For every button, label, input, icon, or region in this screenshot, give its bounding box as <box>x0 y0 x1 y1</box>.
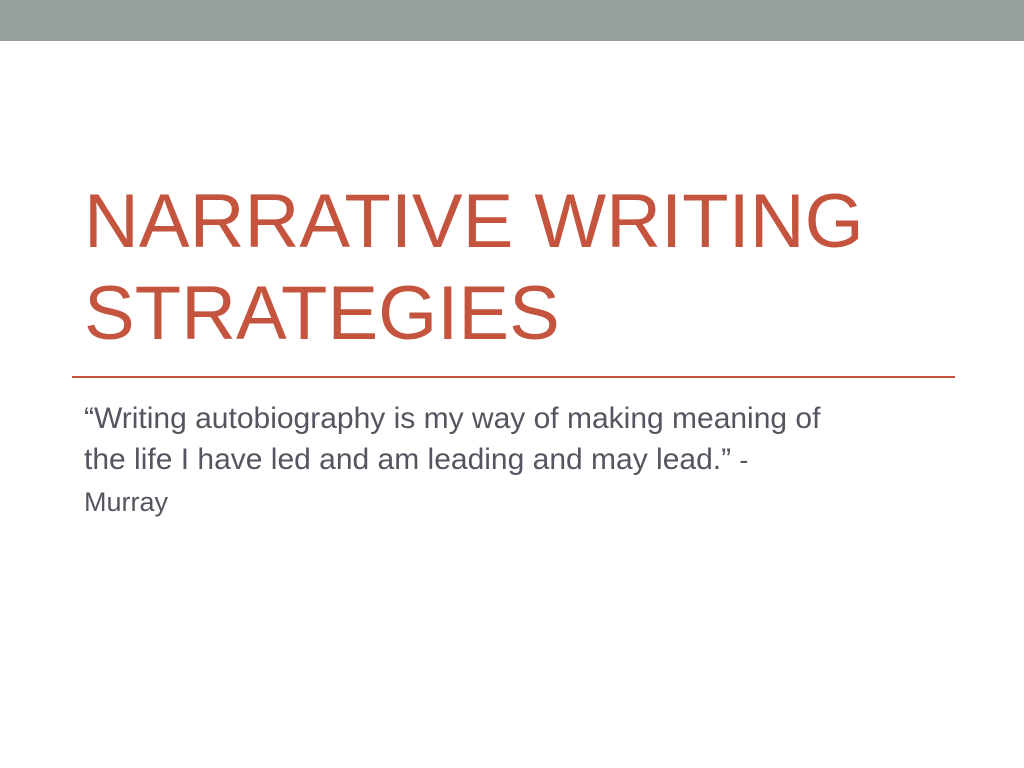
title-block: NARRATIVE WRITING STRATEGIES <box>84 176 964 360</box>
body-block: “Writing autobiography is my way of maki… <box>84 398 824 523</box>
quote-paragraph: “Writing autobiography is my way of maki… <box>84 398 824 523</box>
quote-text: “Writing autobiography is my way of maki… <box>84 402 820 476</box>
slide-header-band <box>0 0 1024 41</box>
presentation-slide: NARRATIVE WRITING STRATEGIES “Writing au… <box>0 0 1024 768</box>
title-divider-rule <box>72 376 955 378</box>
slide-title: NARRATIVE WRITING STRATEGIES <box>84 176 964 360</box>
